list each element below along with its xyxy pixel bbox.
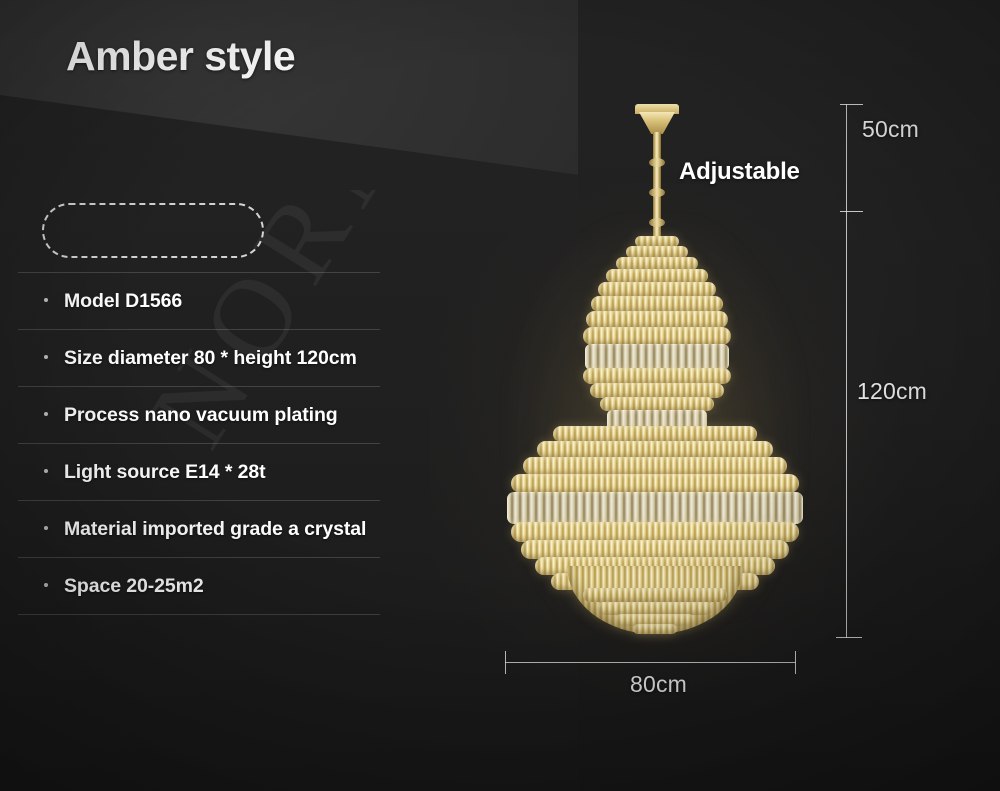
- bullet-dot-icon: [44, 526, 48, 530]
- specification-list: Model D1566 Size diameter 80 * height 12…: [18, 272, 380, 615]
- spec-label-size: Size diameter 80 * height 120cm: [64, 347, 357, 370]
- bullet-dot-icon: [44, 355, 48, 359]
- dimension-label-diameter: 80cm: [630, 671, 687, 698]
- dimension-tick-left: [505, 651, 506, 674]
- spec-row: Model D1566: [18, 272, 380, 329]
- bullet-dot-icon: [44, 412, 48, 416]
- adjustable-label: Adjustable: [679, 158, 800, 186]
- spec-label-space: Space 20-25m2: [64, 575, 204, 598]
- dimension-label-total-height: 120cm: [857, 378, 927, 405]
- bullet-dot-icon: [44, 583, 48, 587]
- page-title: Amber style: [66, 33, 295, 80]
- dimension-label-drop-rod: 50cm: [862, 116, 919, 143]
- product-spec-infographic: NORMCHL Amber style Model D1566 Size dia…: [0, 0, 1000, 791]
- horizontal-dimension-line: [505, 662, 796, 663]
- spec-label-model: Model D1566: [64, 290, 182, 313]
- badge-placeholder-pill: [42, 203, 264, 258]
- spec-row: Size diameter 80 * height 120cm: [18, 329, 380, 386]
- dimension-tick-right: [795, 651, 796, 674]
- dimension-tick-top: [840, 104, 863, 105]
- spec-label-material: Material imported grade a crystal: [64, 518, 366, 541]
- bullet-dot-icon: [44, 469, 48, 473]
- spec-row: Light source E14 * 28t: [18, 443, 380, 500]
- spec-row: Space 20-25m2: [18, 557, 380, 615]
- spec-label-process: Process nano vacuum plating: [64, 404, 338, 427]
- bullet-dot-icon: [44, 298, 48, 302]
- spec-label-light-source: Light source E14 * 28t: [64, 461, 266, 484]
- dimension-tick-middle: [840, 211, 863, 212]
- dimension-tick-bottom: [836, 637, 862, 638]
- vertical-dimension-line: [846, 104, 847, 638]
- spec-row: Material imported grade a crystal: [18, 500, 380, 557]
- spec-row: Process nano vacuum plating: [18, 386, 380, 443]
